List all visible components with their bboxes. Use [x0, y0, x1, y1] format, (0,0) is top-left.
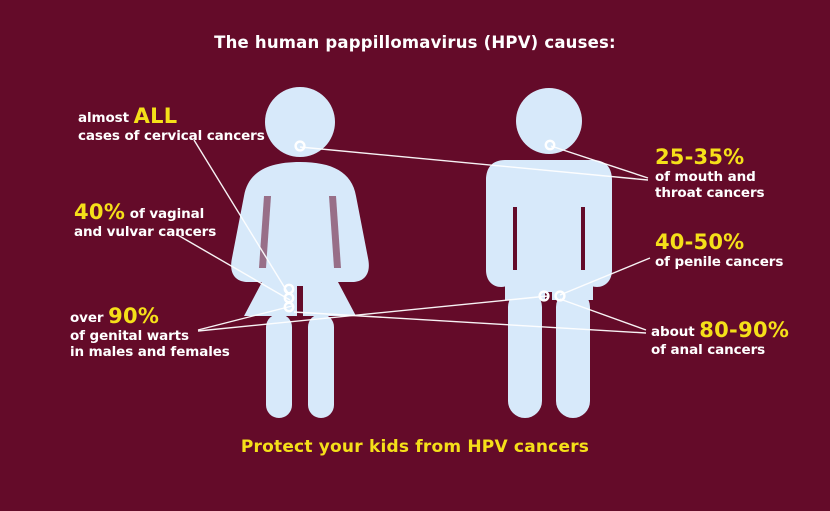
callout-cervical-value: ALL	[134, 104, 178, 128]
callout-penile: 40-50% of penile cancers	[655, 230, 783, 271]
callout-genital-warts-line2: of genital warts	[70, 329, 230, 345]
male-left-arm-notch	[513, 207, 517, 270]
callout-mouth-throat-value: 25-35%	[655, 145, 764, 170]
callout-genital-warts-value: 90%	[108, 304, 159, 328]
callout-penile-line2: of penile cancers	[655, 255, 783, 271]
callout-cervical-line2: cases of cervical cancers	[78, 129, 265, 145]
callout-genital-warts-line3: in males and females	[70, 345, 230, 361]
male-torso	[505, 160, 593, 300]
male-right-arm-notch	[581, 207, 585, 270]
female-leg-gap	[297, 286, 303, 320]
callout-mouth-throat-line2: of mouth and	[655, 170, 764, 186]
callout-anal-lead: about	[651, 324, 695, 340]
callout-anal-line2: of anal cancers	[651, 343, 789, 359]
male-figure	[486, 88, 612, 418]
callout-penile-value: 40-50%	[655, 230, 783, 255]
callout-vaginal-lead-after: of vaginal	[130, 206, 204, 222]
callout-vaginal-value: 40%	[74, 200, 125, 224]
callout-genital-warts: over 90% of genital warts in males and f…	[70, 304, 230, 361]
male-left-leg	[508, 290, 542, 418]
callout-mouth-throat-line3: throat cancers	[655, 186, 764, 202]
female-left-leg	[266, 314, 292, 418]
callout-anal: about 80-90% of anal cancers	[651, 318, 789, 359]
female-head	[265, 87, 335, 157]
callout-genital-warts-lead: over	[70, 310, 104, 326]
callout-vaginal-line2: and vulvar cancers	[74, 225, 216, 241]
callout-cervical: almost ALL cases of cervical cancers	[78, 104, 265, 145]
male-right-leg	[556, 290, 590, 418]
callout-anal-value: 80-90%	[699, 318, 789, 342]
hpv-infographic: The human pappillomavirus (HPV) causes:	[0, 0, 830, 511]
callout-vaginal: 40% of vaginal and vulvar cancers	[74, 200, 216, 241]
callout-mouth-throat: 25-35% of mouth and throat cancers	[655, 145, 764, 202]
callout-cervical-lead: almost	[78, 110, 129, 126]
female-right-leg	[308, 314, 334, 418]
male-leg-gap	[545, 292, 552, 330]
male-head	[516, 88, 582, 154]
footer-callout: Protect your kids from HPV cancers	[0, 437, 830, 457]
